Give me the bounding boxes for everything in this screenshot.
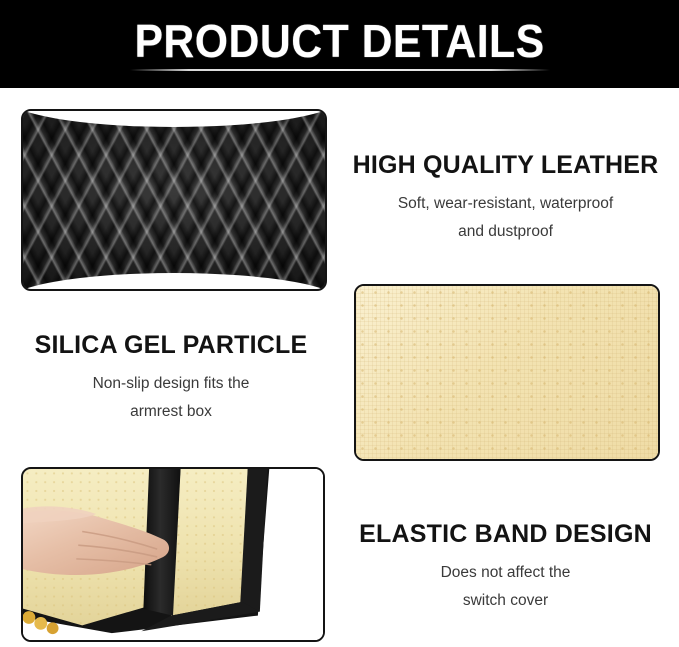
- feature-description-high-quality-leather: Soft, wear-resistant, waterproof and dus…: [338, 190, 673, 246]
- feature-heading-elastic-band-design: ELASTIC BAND DESIGN: [338, 519, 673, 549]
- feature-description-line-1: Does not affect the: [441, 564, 571, 581]
- quilted-leather-texture: [23, 111, 325, 289]
- feature-description-line-2: armrest box: [130, 403, 212, 420]
- page-title: PRODUCT DETAILS: [134, 17, 544, 65]
- elastic-band-illustration: [23, 469, 323, 640]
- feature-description-line-2: and dustproof: [458, 223, 553, 240]
- feature-description-silica-gel-particle: Non-slip design fits the armrest box: [6, 370, 336, 426]
- feature-image-silica-gel-particle: [354, 284, 660, 461]
- feature-description-line-1: Non-slip design fits the: [93, 375, 250, 392]
- feature-description-line-2: switch cover: [463, 592, 548, 609]
- product-details-banner: PRODUCT DETAILS: [0, 0, 679, 88]
- feature-image-high-quality-leather: [21, 109, 327, 291]
- feature-caption-elastic-band-design: ELASTIC BAND DESIGN Does not affect the …: [338, 519, 673, 615]
- feature-heading-silica-gel-particle: SILICA GEL PARTICLE: [6, 330, 336, 360]
- feature-description-line-1: Soft, wear-resistant, waterproof: [398, 195, 613, 212]
- feature-heading-high-quality-leather: HIGH QUALITY LEATHER: [338, 150, 673, 180]
- feature-image-elastic-band-design: [21, 467, 325, 642]
- elastic-band-photo: [23, 469, 323, 640]
- title-underline-rule: [130, 69, 550, 71]
- feature-description-elastic-band-design: Does not affect the switch cover: [338, 559, 673, 615]
- feature-caption-high-quality-leather: HIGH QUALITY LEATHER Soft, wear-resistan…: [338, 150, 673, 246]
- feature-caption-silica-gel-particle: SILICA GEL PARTICLE Non-slip design fits…: [6, 330, 336, 426]
- silica-particle-texture: [356, 286, 658, 459]
